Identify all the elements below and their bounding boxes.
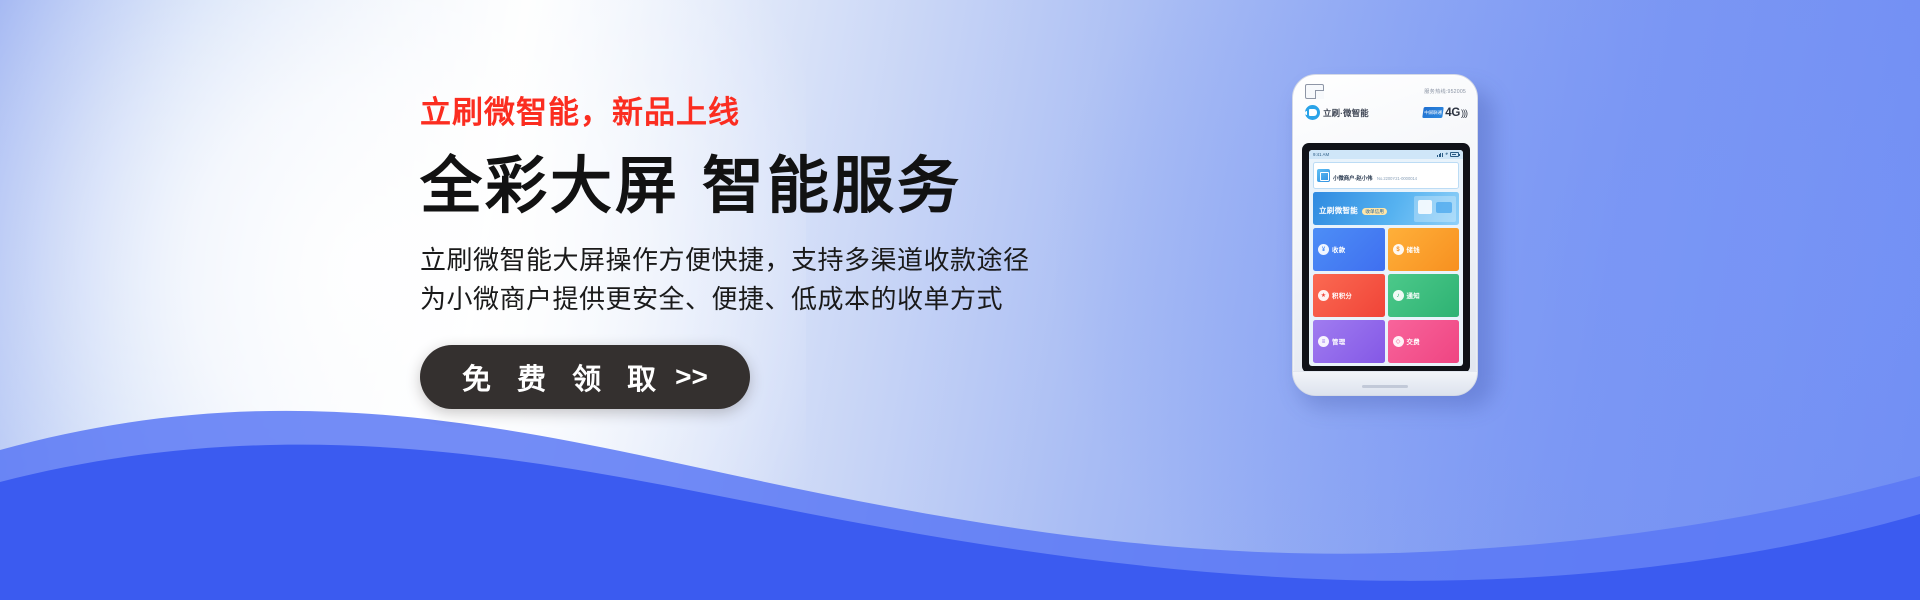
merchant-info: 小微商户-赵小伟 No.2200Y21-0000014 <box>1333 166 1417 186</box>
lishua-logo-icon <box>1305 105 1320 120</box>
list-icon: ≡ <box>1318 336 1329 347</box>
headline-part-1: 全彩大屏 <box>420 152 680 221</box>
status-time: 9:41 AM <box>1313 152 1329 157</box>
brand-name-text: 立刷·微智能 <box>1323 107 1369 119</box>
status-bar: 9:41 AM ◕ <box>1309 150 1463 159</box>
signal-waves-icon: ))) <box>1461 108 1467 118</box>
device-brand-row: 立刷·微智能 中国联通 4G ))) <box>1305 105 1467 120</box>
battery-icon <box>1450 152 1459 157</box>
tile-label: 积积分 <box>1332 291 1352 300</box>
free-claim-button[interactable]: 免 费 领 取 >> <box>420 345 750 409</box>
headline-part-2: 智能服务 <box>702 152 962 221</box>
promo-text: 立刷微智能 收单信用 <box>1319 199 1387 218</box>
status-icons: ◕ <box>1437 152 1459 157</box>
signal-bars-icon <box>1437 153 1443 157</box>
subcopy-block: 立刷微智能大屏操作方便快捷，支持多渠道收款途径 为小微商户提供更安全、便捷、低成… <box>420 241 1240 319</box>
coin-icon: $ <box>1393 244 1404 255</box>
merchant-name: 小微商户-赵小伟 <box>1333 176 1373 182</box>
tile-label: 交费 <box>1407 337 1420 346</box>
wifi-icon: ◕ <box>1445 152 1448 157</box>
tile-points[interactable]: ★ 积积分 <box>1313 274 1385 317</box>
merchant-avatar-icon <box>1317 169 1330 182</box>
copy-block: 立刷微智能，新品上线 全彩大屏智能服务 立刷微智能大屏操作方便快捷，支持多渠道收… <box>420 96 1240 409</box>
merchant-id: No.2200Y21-0000014 <box>1377 176 1417 181</box>
promo-title: 立刷微智能 <box>1319 206 1358 215</box>
tile-manage[interactable]: ≡ 管理 <box>1313 320 1385 363</box>
tile-pay[interactable]: ◇ 交费 <box>1388 320 1460 363</box>
printer-slot-icon <box>1305 84 1324 99</box>
wallet-icon: ¥ <box>1318 244 1329 255</box>
promo-illustration-icon <box>1414 196 1456 222</box>
tile-label: 管理 <box>1332 337 1345 346</box>
device-body: 服务热线:952005 立刷·微智能 中国联通 4G ))) <box>1292 74 1478 396</box>
hotline-text: 服务热线:952005 <box>1424 88 1466 95</box>
device-top-panel: 服务热线:952005 立刷·微智能 中国联通 4G ))) <box>1293 75 1477 141</box>
tile-label: 储钱 <box>1407 245 1420 254</box>
double-chevron-right-icon: >> <box>675 361 708 393</box>
merchant-card[interactable]: 小微商户-赵小伟 No.2200Y21-0000014 <box>1313 162 1459 189</box>
screen-promo-banner[interactable]: 立刷微智能 收单信用 <box>1313 192 1459 225</box>
network-label: 4G <box>1445 107 1460 119</box>
pos-terminal: 服务热线:952005 立刷·微智能 中国联通 4G ))) <box>1292 74 1492 404</box>
device-bottom-bezel <box>1293 371 1477 395</box>
subcopy-line-1: 立刷微智能大屏操作方便快捷，支持多渠道收款途径 <box>420 241 1240 280</box>
carrier-chip-icon: 中国联通 <box>1422 107 1444 118</box>
tile-label: 通知 <box>1407 291 1420 300</box>
cta-label: 免 费 领 取 <box>462 356 665 398</box>
promo-subtitle: 收单信用 <box>1362 208 1386 215</box>
tile-notice[interactable]: ♪ 通知 <box>1388 274 1460 317</box>
app-tile-grid: ¥ 收款 $ 储钱 ★ 积积分 ♪ 通知 <box>1313 228 1459 366</box>
eyebrow-text: 立刷微智能，新品上线 <box>420 96 1240 130</box>
bell-icon: ♪ <box>1393 290 1404 301</box>
network-badge: 中国联通 4G ))) <box>1423 107 1467 119</box>
brand-lockup: 立刷·微智能 <box>1305 105 1369 120</box>
subcopy-line-2: 为小微商户提供更安全、便捷、低成本的收单方式 <box>420 280 1240 319</box>
device-screen: 9:41 AM ◕ 小微商户-赵小伟 No.2200Y21-0000014 <box>1309 150 1463 366</box>
page-title: 全彩大屏智能服务 <box>420 154 1240 221</box>
device-screen-frame: 9:41 AM ◕ 小微商户-赵小伟 No.2200Y21-0000014 <box>1302 143 1470 373</box>
tile-collect[interactable]: ¥ 收款 <box>1313 228 1385 271</box>
tile-save[interactable]: $ 储钱 <box>1388 228 1460 271</box>
card-icon: ◇ <box>1393 336 1404 347</box>
tile-label: 收款 <box>1332 245 1345 254</box>
star-icon: ★ <box>1318 290 1329 301</box>
promo-banner: 立刷微智能，新品上线 全彩大屏智能服务 立刷微智能大屏操作方便快捷，支持多渠道收… <box>0 0 1920 600</box>
